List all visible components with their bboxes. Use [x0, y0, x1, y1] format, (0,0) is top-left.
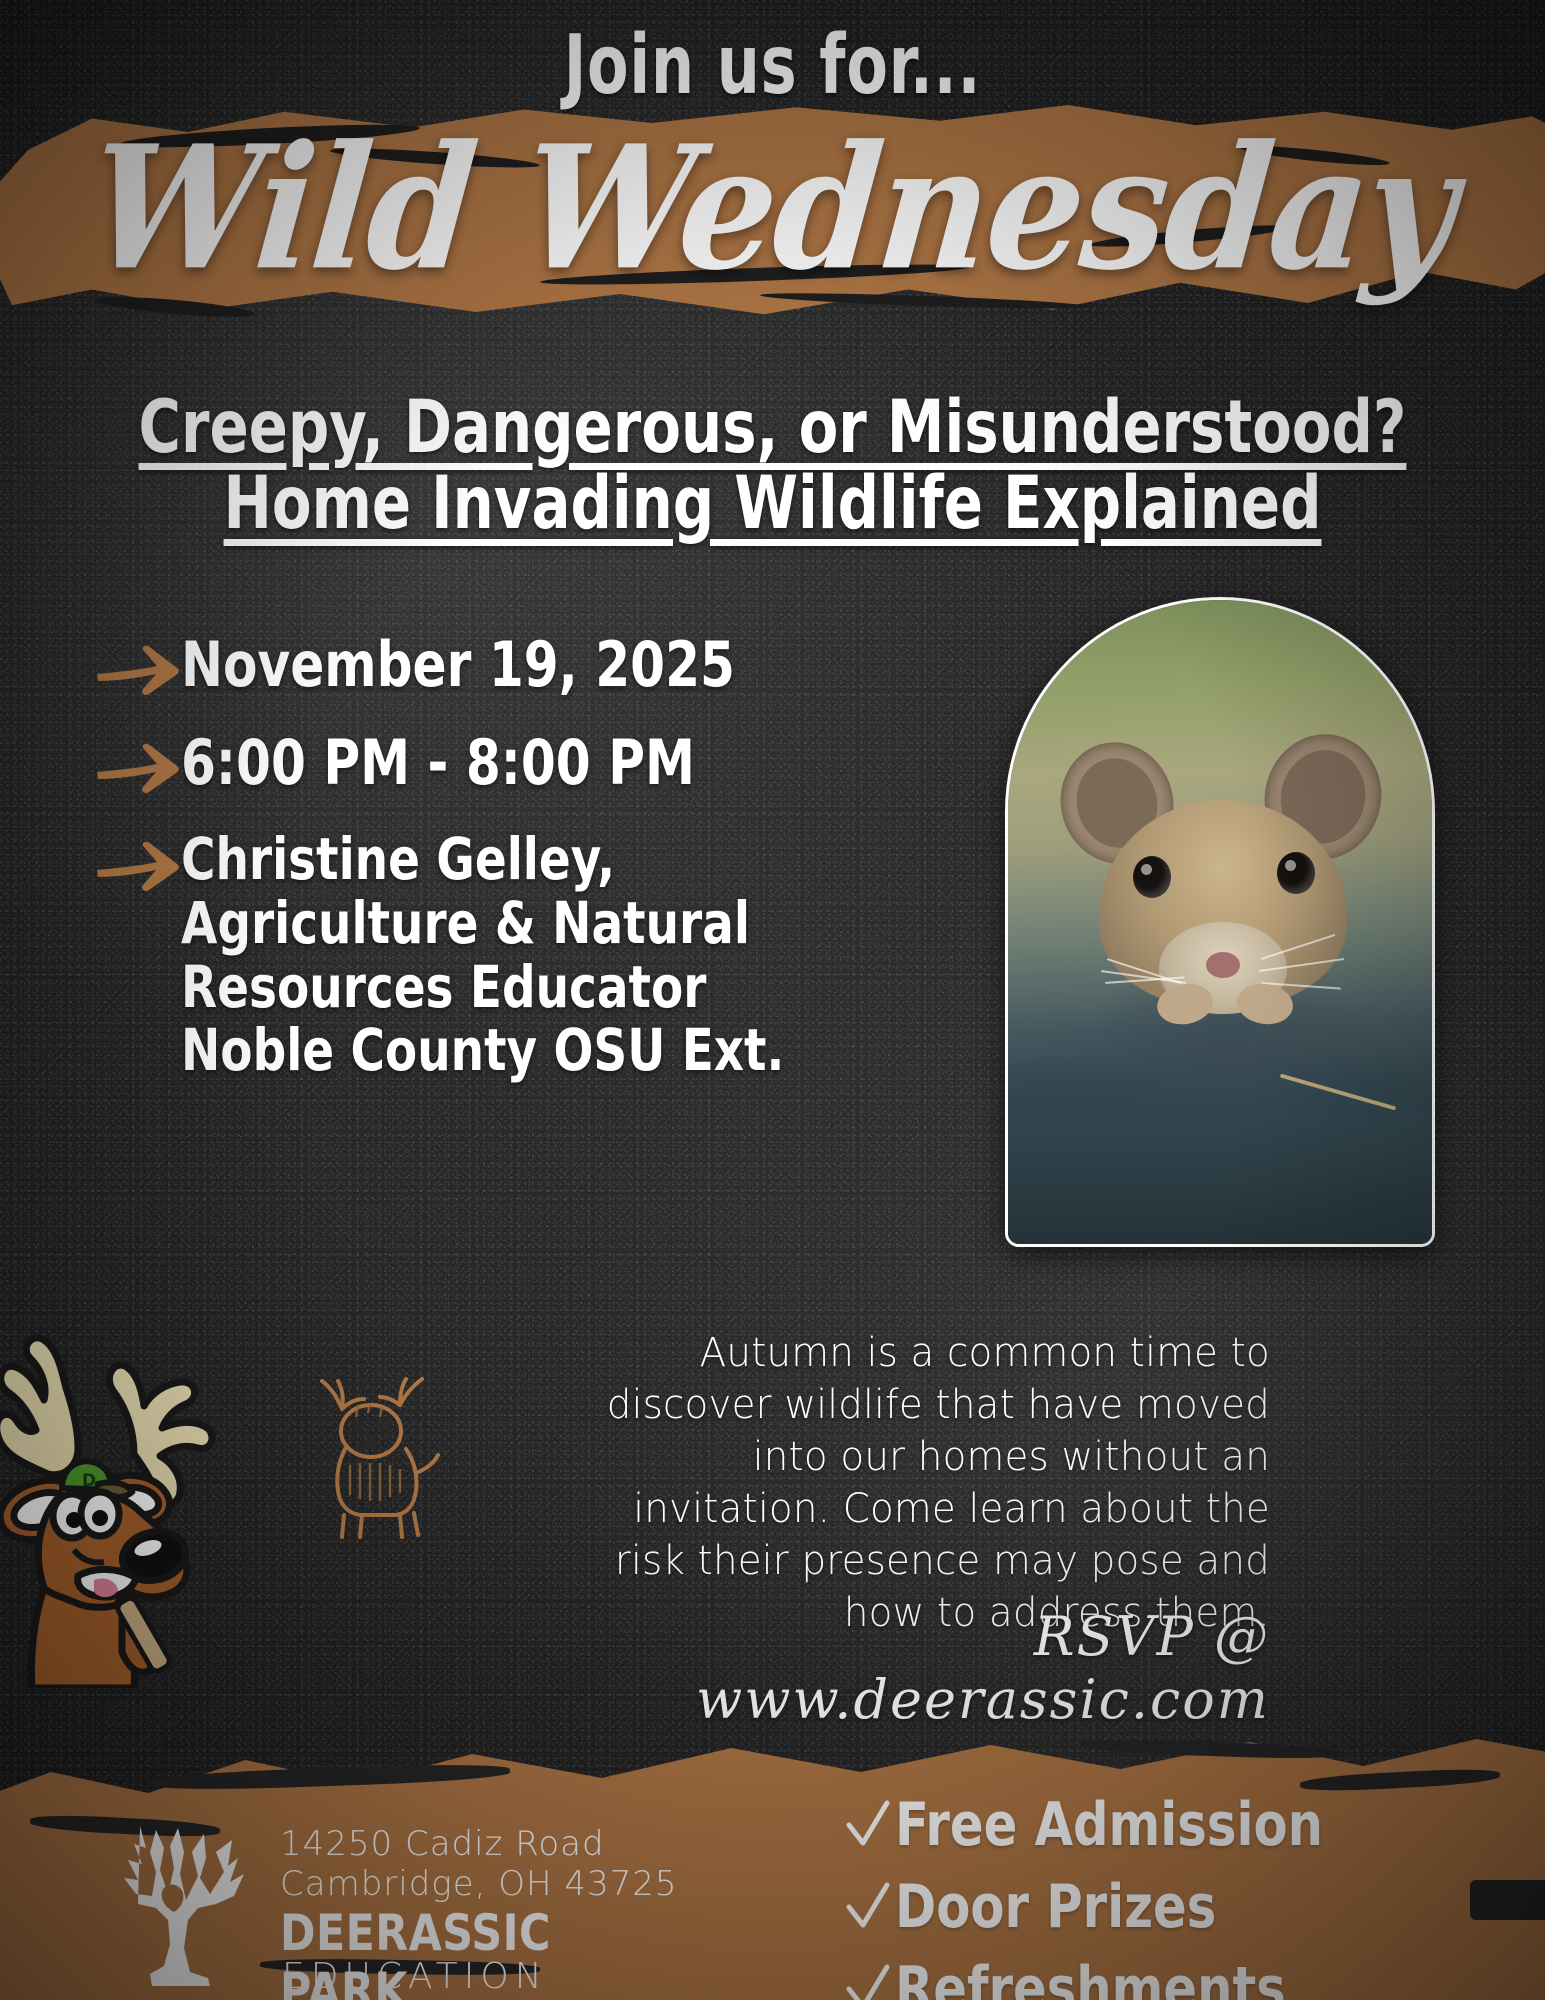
event-flyer: Join us for... Wild Wednesday Creepy, Da…: [0, 0, 1545, 2000]
vignette-overlay: [0, 0, 1545, 2000]
